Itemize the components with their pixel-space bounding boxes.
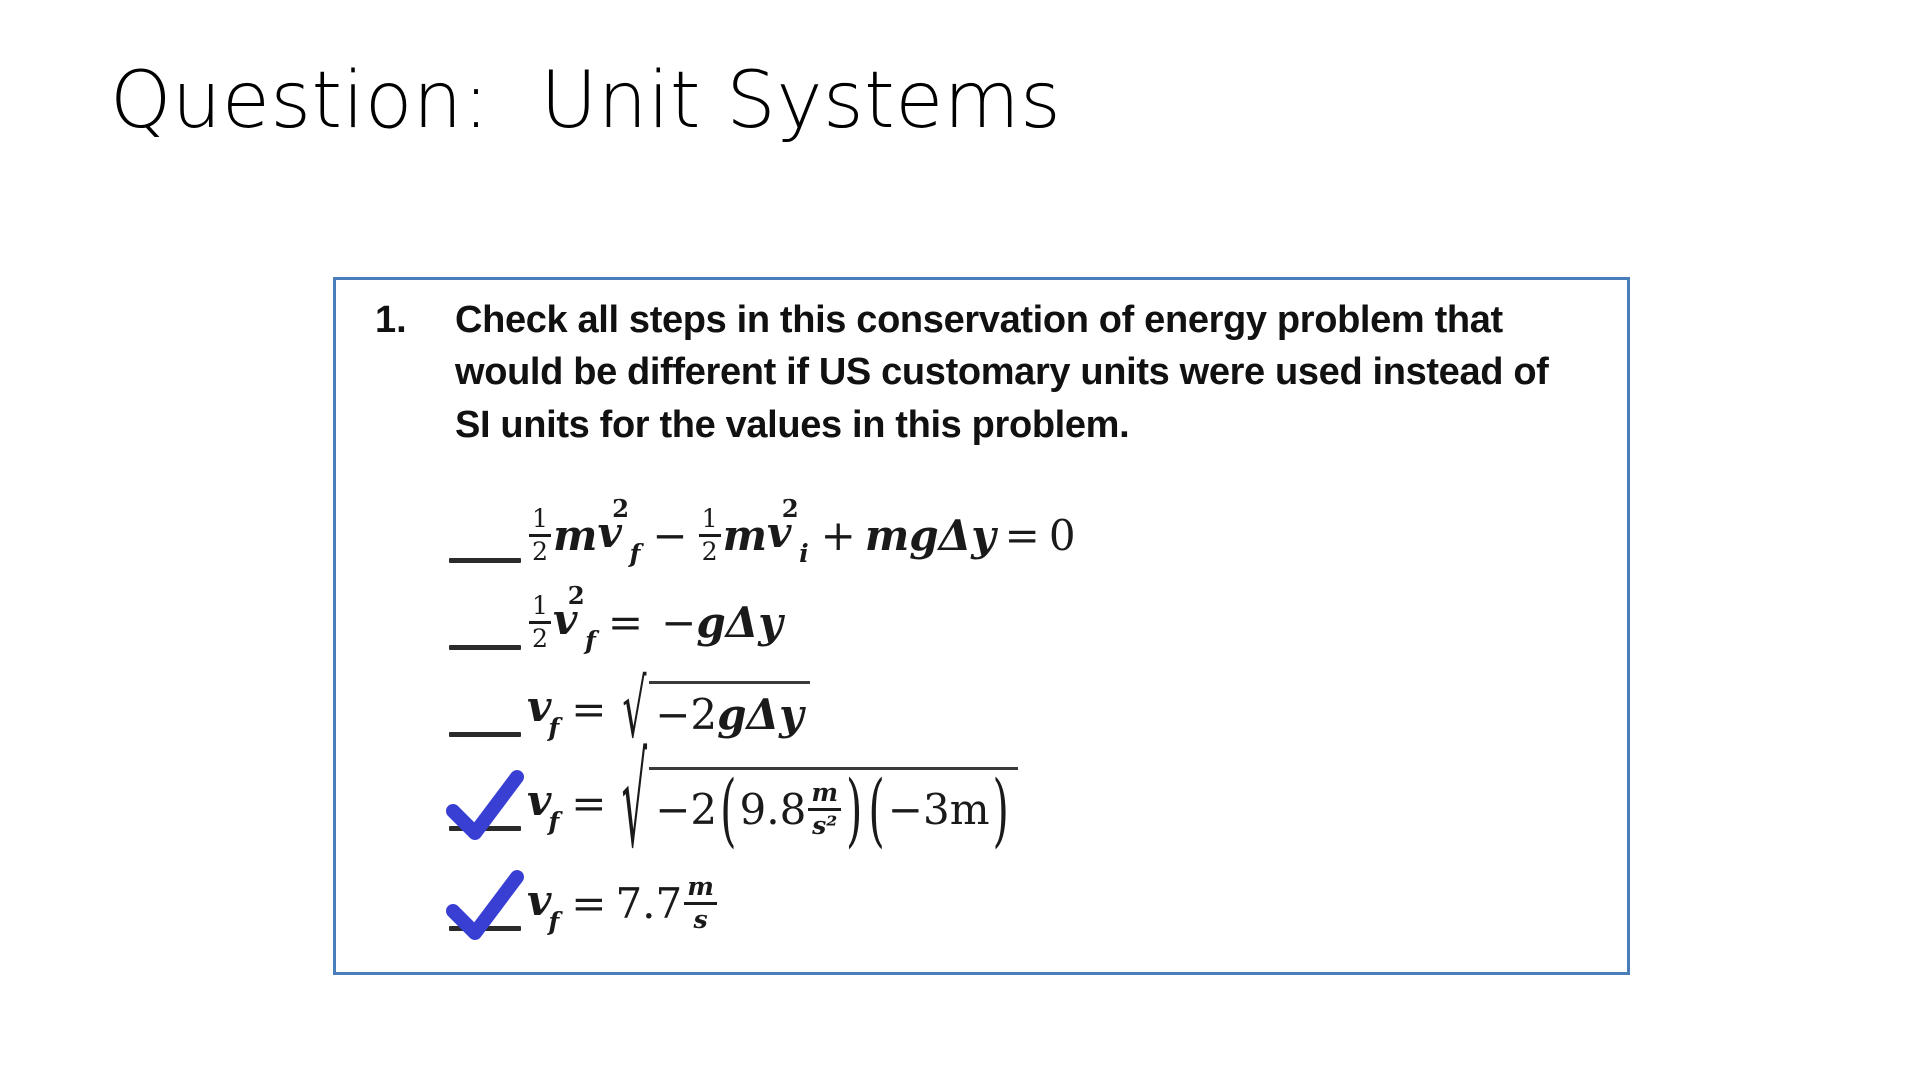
question-number: 1. <box>375 294 455 346</box>
equals-operator: = <box>996 511 1049 560</box>
question-text: Check all steps in this conservation of … <box>455 294 1590 451</box>
equals-operator: = <box>562 779 615 828</box>
unit-numerator: m <box>808 780 841 806</box>
fraction-one-half-2: 1 2 <box>699 506 721 564</box>
plus-operator: + <box>812 511 865 560</box>
paren2-open: ( <box>865 763 887 856</box>
subscript: f <box>585 625 596 655</box>
exponent: 2 <box>782 494 799 523</box>
velocity-final-squared: v2f <box>597 508 643 562</box>
velocity-final: vf <box>527 776 562 830</box>
mass-symbol: m <box>723 511 767 560</box>
subscript: f <box>548 906 559 936</box>
equation-5-math: vf = 7.7 m s <box>523 874 1591 932</box>
check-mark-icon <box>447 771 525 845</box>
height-value: 3m <box>923 785 990 834</box>
paren2-close: ) <box>990 763 1012 856</box>
mg-term: mg <box>865 511 939 560</box>
exponent: 2 <box>568 581 585 610</box>
radicand: − 2 ( 9.8 m s² ) ( − 3m ) <box>649 767 1018 838</box>
answer-blank-5[interactable] <box>441 860 523 947</box>
paren-open: ( <box>717 763 739 856</box>
square-root-expression: √ − 2 g Δy <box>621 681 809 739</box>
equation-step-row: vf = √ − 2 g Δy <box>441 666 1591 753</box>
negative-sign: − <box>655 785 690 834</box>
answer-blank-3[interactable] <box>441 666 523 753</box>
equals-operator: = <box>599 598 652 647</box>
gravity-value: 9.8 <box>740 785 807 834</box>
velocity-final: vf <box>527 876 562 930</box>
equals-operator: = <box>562 879 615 928</box>
delta-y-term: Δy <box>939 511 996 560</box>
equation-3-math: vf = √ − 2 g Δy <box>523 681 1591 739</box>
mass-symbol: m <box>553 511 597 560</box>
fraction-denominator: 2 <box>699 539 721 565</box>
delta-y-term: Δy <box>747 690 804 739</box>
exponent: 2 <box>612 494 629 523</box>
equation-step-row: 1 2 m v2f − 1 2 m v2i + mg Δy = 0 <box>441 492 1591 579</box>
minus-operator: − <box>643 511 696 560</box>
fraction-one-half: 1 2 <box>529 506 551 564</box>
equation-step-row: vf = 7.7 m s <box>441 853 1591 953</box>
fraction-numerator: 1 <box>699 506 721 532</box>
fraction-numerator: 1 <box>529 506 551 532</box>
blank-rule-icon <box>449 645 521 650</box>
question-list-item: 1. Check all steps in this conservation … <box>375 294 1590 451</box>
result-value: 7.7 <box>615 879 682 928</box>
equation-2-math: 1 2 v2f = − g Δy <box>523 593 1591 651</box>
paren-close: ) <box>843 763 865 856</box>
fraction-denominator: 2 <box>529 626 551 652</box>
answer-blank-1[interactable] <box>441 492 523 579</box>
square-root-expression: √ − 2 ( 9.8 m s² ) ( − 3 <box>621 767 1017 838</box>
equation-4-math: vf = √ − 2 ( 9.8 m s² ) <box>523 767 1591 838</box>
negative-sign: − <box>655 690 690 739</box>
subscript: f <box>548 806 559 836</box>
velocity-final: vf <box>527 682 562 736</box>
gravity-symbol: g <box>696 598 725 647</box>
right-hand-side: 0 <box>1049 511 1076 560</box>
subscript: i <box>799 538 809 568</box>
radicand: − 2 g Δy <box>649 681 809 739</box>
negative-sign-2: − <box>888 785 923 834</box>
equals-operator: = <box>562 685 615 734</box>
question-panel: 1. Check all steps in this conservation … <box>333 277 1630 975</box>
blank-rule-icon <box>449 732 521 737</box>
fraction-numerator: 1 <box>529 593 551 619</box>
fraction-denominator: 2 <box>529 539 551 565</box>
equation-step-row: vf = √ − 2 ( 9.8 m s² ) <box>441 753 1591 853</box>
page-title: Question: Unit Systems <box>110 58 1061 145</box>
unit-denominator: s² <box>809 813 840 839</box>
negative-sign: − <box>652 598 696 647</box>
coefficient: 2 <box>690 690 717 739</box>
unit-denominator: s <box>690 907 710 933</box>
check-mark-icon <box>447 871 525 945</box>
equation-step-row: 1 2 v2f = − g Δy <box>441 579 1591 666</box>
answer-blank-2[interactable] <box>441 579 523 666</box>
blank-rule-icon <box>449 558 521 563</box>
equation-1-math: 1 2 m v2f − 1 2 m v2i + mg Δy = 0 <box>523 506 1591 564</box>
equation-step-list: 1 2 m v2f − 1 2 m v2i + mg Δy = 0 <box>441 492 1591 953</box>
delta-y-term: Δy <box>726 598 783 647</box>
gravity-unit-fraction: m s² <box>808 780 841 838</box>
gravity-symbol: g <box>717 690 746 739</box>
answer-blank-4[interactable] <box>441 760 523 847</box>
fraction-one-half: 1 2 <box>529 593 551 651</box>
subscript: f <box>548 712 559 742</box>
unit-numerator: m <box>684 874 717 900</box>
coefficient: 2 <box>690 785 717 834</box>
subscript: f <box>630 538 641 568</box>
velocity-final-squared: v2f <box>553 595 599 649</box>
speed-unit-fraction: m s <box>684 874 717 932</box>
velocity-initial-squared: v2i <box>767 508 812 562</box>
